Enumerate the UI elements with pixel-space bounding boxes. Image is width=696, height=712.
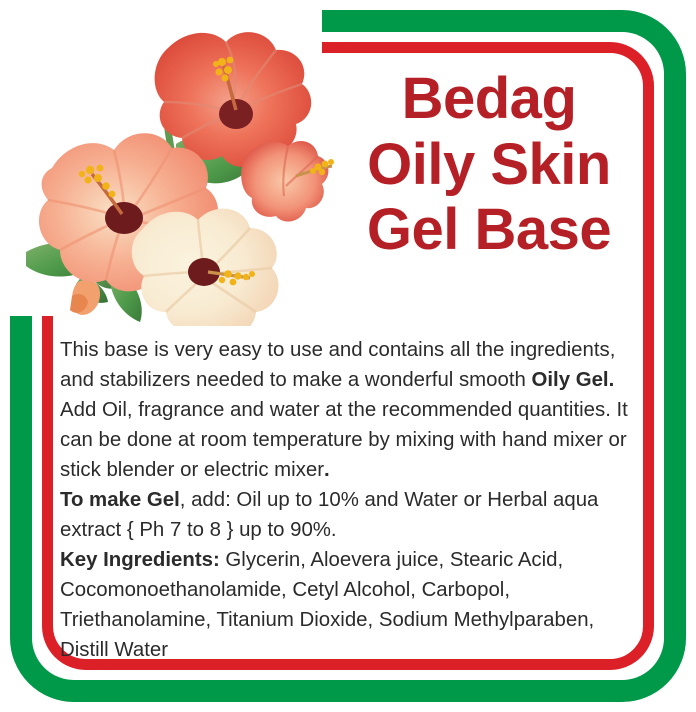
page-title: Bedag Oily Skin Gel Base xyxy=(336,66,642,263)
product-description: This base is very easy to use and contai… xyxy=(60,336,638,666)
title-line-product: Gel Base xyxy=(336,197,642,263)
usage-paragraph: To make Gel, add: Oil up to 10% and Wate… xyxy=(60,486,638,546)
hibiscus-cream-bloom xyxy=(132,209,279,326)
product-label: Bedag Oily Skin Gel Base This base is ve… xyxy=(0,0,696,712)
ingredients-paragraph: Key Ingredients: Glycerin, Aloevera juic… xyxy=(60,546,638,666)
hibiscus-flowers-illustration xyxy=(0,14,340,326)
intro-paragraph: This base is very easy to use and contai… xyxy=(60,336,638,486)
usage-bold-label: To make Gel xyxy=(60,489,180,511)
ingredients-label: Key Ingredients: xyxy=(60,549,220,571)
hibiscus-side-bloom xyxy=(241,141,334,222)
title-line-brand: Bedag xyxy=(336,66,642,132)
flower-bud xyxy=(70,280,100,315)
title-line-type: Oily Skin xyxy=(336,132,642,198)
intro-bold-oily-gel: Oily Gel. xyxy=(532,369,615,391)
intro-text-part2: Add Oil, fragrance and water at the reco… xyxy=(60,399,628,481)
intro-bold-period: . xyxy=(324,459,330,481)
